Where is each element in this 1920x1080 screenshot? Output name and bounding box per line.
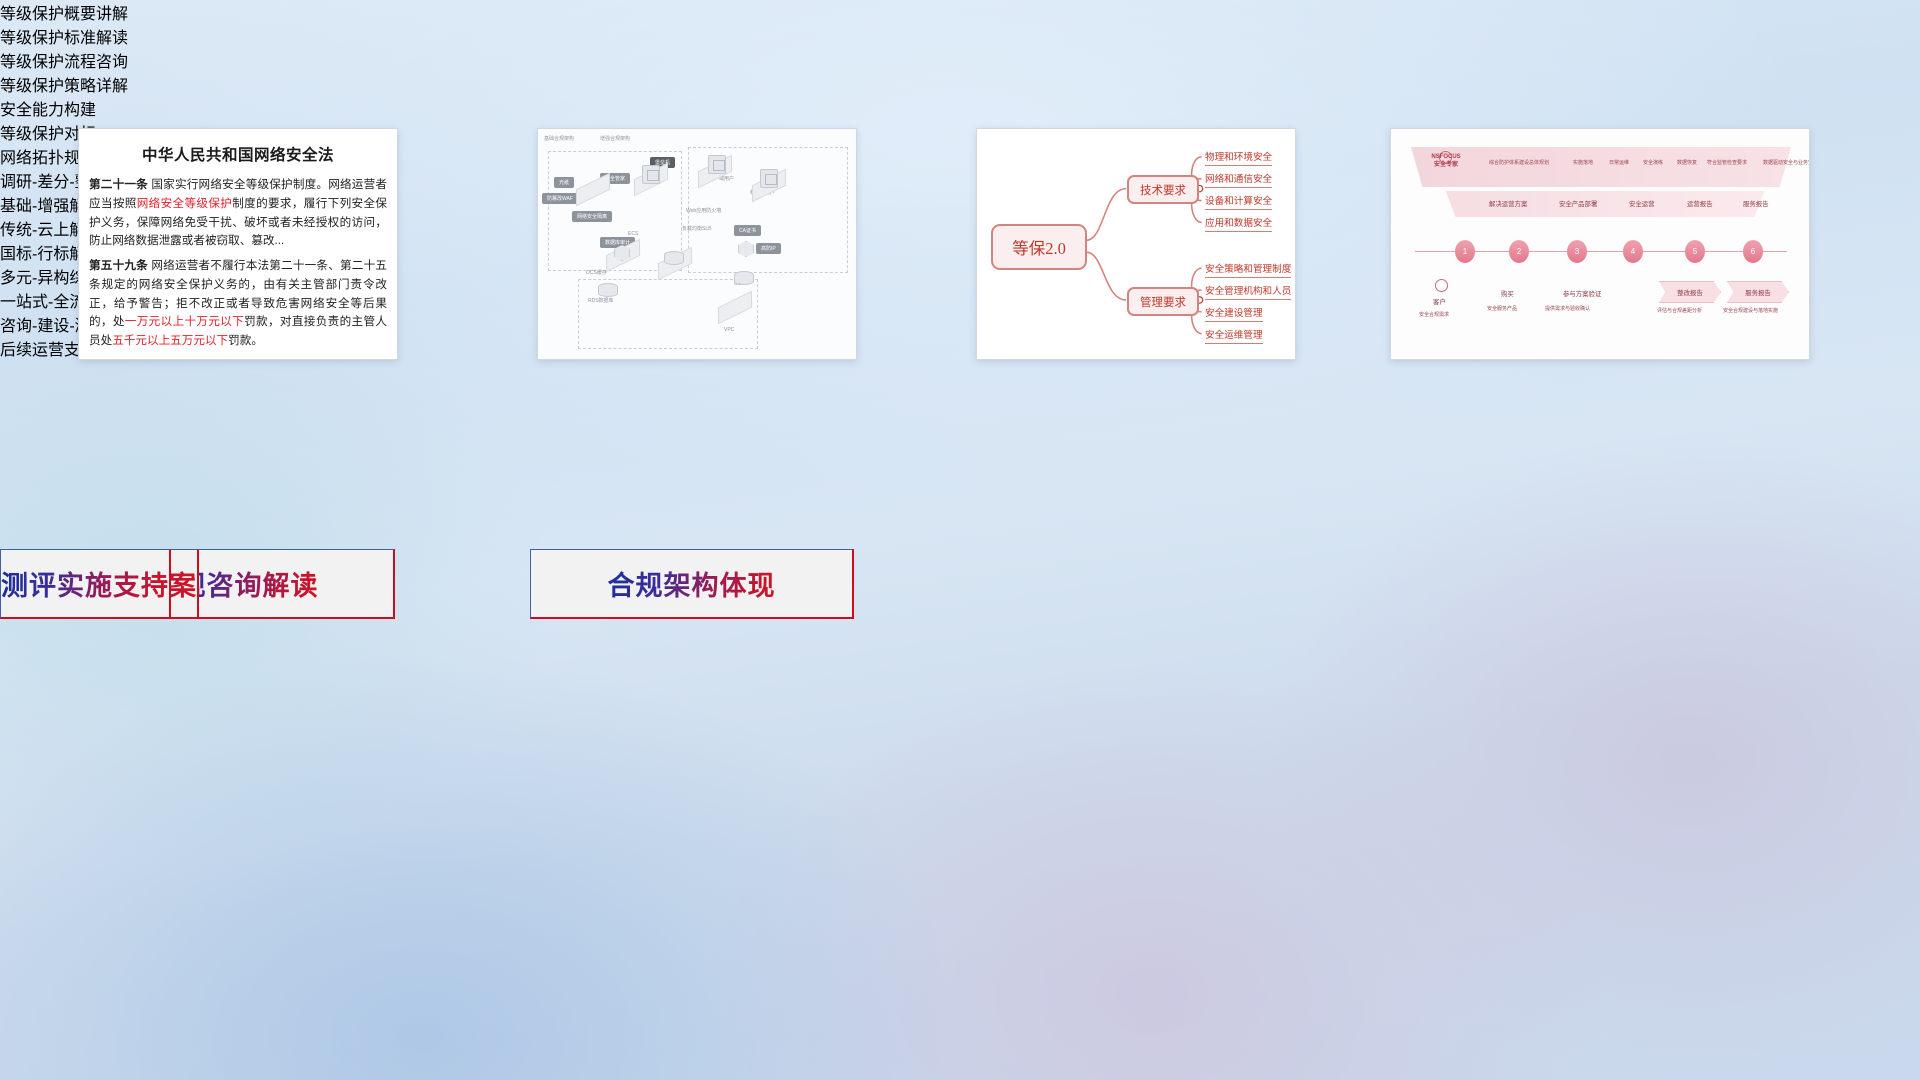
mindmap-leaf-mgmt-1[interactable]: 安全管理机构和人员	[1205, 283, 1291, 300]
law-body: 第二十一条 国家实行网络安全等级保护制度。网络运营者应当按照网络安全等级保护制度…	[79, 176, 397, 351]
list-item: 等级保护概要讲解	[0, 0, 1920, 24]
nsfocus-step-2[interactable]: 2	[1509, 240, 1529, 263]
arch-chip-16: VPC	[724, 327, 734, 333]
arch-server-1	[708, 155, 726, 174]
law-article-59: 第五十九条 网络运营者不履行本法第二十一条、第二十五条规定的网络安全保护义务的，…	[89, 257, 387, 351]
customer-icon	[1435, 279, 1448, 292]
nsfocus-step-1[interactable]: 1	[1455, 240, 1475, 263]
law-article-21-highlight: 网络安全等级保护	[137, 197, 232, 210]
arch-server-3	[642, 165, 660, 184]
mindmap-leaf-tech-1[interactable]: 网络和通信安全	[1205, 171, 1272, 188]
nsfocus-chevron-sub-1: 安全合规建设与落地实施	[1723, 307, 1778, 314]
law-article-21: 第二十一条 国家实行网络安全等级保护制度。网络运营者应当按照网络安全等级保护制度…	[89, 176, 387, 251]
nsfocus-step-4[interactable]: 4	[1623, 240, 1643, 263]
arch-header-left: 基础合规架构	[544, 135, 574, 142]
law-article-59-text-c: 罚款。	[228, 334, 263, 347]
list-item: 安全能力构建	[0, 96, 1920, 120]
mindmap-leaf-mgmt-0[interactable]: 安全策略和管理制度	[1205, 261, 1291, 278]
nsfocus-bottom-sub-0: 安全服务产品	[1487, 305, 1517, 312]
list-item: 等级保护流程咨询	[0, 48, 1920, 72]
section-title-4: 测评实施支持	[1, 564, 169, 603]
list-item: 等级保护标准解读	[0, 24, 1920, 48]
card-mindmap-dengbao[interactable]: 等保2.0 技术要求 管理要求 物理和环境安全 网络和通信安全 设备和计算安全 …	[976, 128, 1296, 360]
law-article-59-highlight-1: 一万元以上十万元以下	[125, 315, 244, 328]
arch-chip-4: 网络安全隔离	[572, 211, 612, 222]
nsfocus-bottom-item-1: 参与方案验证	[1563, 289, 1601, 298]
arch-header-right: 增强合规架构	[600, 135, 630, 142]
nsfocus-bottom-left-label: 客户	[1433, 297, 1446, 306]
nsfocus-chevron-1[interactable]: 服务报告	[1727, 281, 1789, 303]
arch-chip-2: 光纸	[554, 177, 574, 188]
nsfocus-band-item-1: 实施落地	[1573, 159, 1593, 166]
arch-db-1	[664, 251, 684, 265]
nsfocus-canvas: NSFOCUS 安全专家 综合防护体系建设总体规划 实施落地 日常运维 安全演练…	[1391, 129, 1809, 359]
mindmap-branch-management[interactable]: 管理要求	[1127, 287, 1199, 316]
section-title-2: 合规架构体现	[608, 564, 776, 603]
mindmap-leaf-mgmt-3[interactable]: 安全运维管理	[1205, 327, 1263, 344]
arch-oss	[734, 271, 754, 285]
nsfocus-band2-item-3: 运营报告	[1687, 199, 1713, 208]
nsfocus-bottom-item-0: 购买	[1501, 289, 1514, 298]
mindmap-leaf-tech-0[interactable]: 物理和环境安全	[1205, 149, 1272, 166]
arch-chip-12: ECS	[628, 231, 638, 237]
list-item: 等级保护策略详解	[0, 72, 1920, 96]
section-title-box-2[interactable]: 合规架构体现	[530, 549, 854, 619]
nsfocus-band2-item-0: 解决运营方案	[1489, 199, 1527, 208]
nsfocus-band2-item-4: 服务报告	[1743, 199, 1769, 208]
nsfocus-band-item-5: 符合监管检查要求	[1707, 159, 1747, 166]
mindmap-leaf-mgmt-2[interactable]: 安全建设管理	[1205, 305, 1263, 322]
mindmap-root[interactable]: 等保2.0	[991, 224, 1087, 270]
mindmap-branch-technical[interactable]: 技术要求	[1127, 175, 1199, 204]
nsfocus-chevron-sub-0: 评估与合规差距分析	[1657, 307, 1702, 314]
card-nsfocus-roadmap[interactable]: NSFOCUS 安全专家 综合防护体系建设总体规划 实施落地 日常运维 安全演练…	[1390, 128, 1810, 360]
card-cybersecurity-law[interactable]: 中华人民共和国网络安全法 第二十一条 国家实行网络安全等级保护制度。网络运营者应…	[78, 128, 398, 360]
section-title-box-4[interactable]: 测评实施支持	[0, 549, 171, 619]
law-article-59-label: 第五十九条	[89, 259, 148, 272]
nsfocus-band2-item-2: 安全运营	[1629, 199, 1655, 208]
arch-db-2	[598, 283, 618, 297]
law-article-21-label: 第二十一条	[89, 178, 148, 191]
arch-chip-13: OCS缓存	[586, 269, 607, 276]
nsfocus-logo-line2: 安全专家	[1417, 161, 1475, 169]
mindmap-canvas: 等保2.0 技术要求 管理要求 物理和环境安全 网络和通信安全 设备和计算安全 …	[977, 129, 1295, 359]
nsfocus-band-item-0: 综合防护体系建设总体规划	[1489, 159, 1549, 166]
nsfocus-logo-line1: NSFOCUS	[1417, 153, 1475, 161]
nsfocus-band-item-6: 数据驱动安全与业务安全深度融合	[1763, 159, 1810, 166]
law-article-59-highlight-2: 五千元以上五万元以下	[112, 334, 228, 347]
arch-chip-11: 负载均衡SLB	[682, 225, 711, 232]
nsfocus-step-6[interactable]: 6	[1743, 240, 1763, 263]
card-architecture-diagram[interactable]: 基础合规架构 增强合规架构 堡垒机 安全管家 光纸 防篡改WAF 网络安全隔离 …	[537, 128, 857, 360]
nsfocus-bottom-left-sub: 安全合规需求	[1419, 311, 1449, 318]
bullet-column-1: 等级保护概要讲解 等级保护标准解读 等级保护流程咨询 等级保护策略详解	[0, 0, 1920, 96]
nsfocus-step-3[interactable]: 3	[1567, 240, 1587, 263]
nsfocus-logo: NSFOCUS 安全专家	[1417, 153, 1475, 169]
nsfocus-band2-item-1: 安全产品部署	[1559, 199, 1597, 208]
nsfocus-band-item-4: 数据恢复	[1677, 159, 1697, 166]
mindmap-leaf-tech-2[interactable]: 设备和计算安全	[1205, 193, 1272, 210]
nsfocus-bottom-sub-1: 提供需求与验收确认	[1545, 305, 1590, 312]
nsfocus-band-item-3: 安全演练	[1643, 159, 1663, 166]
mindmap-leaf-tech-3[interactable]: 应用和数据安全	[1205, 215, 1272, 232]
arch-chip-10: Web应用防火墙	[686, 207, 721, 214]
architecture-canvas: 基础合规架构 增强合规架构 堡垒机 安全管家 光纸 防篡改WAF 网络安全隔离 …	[538, 129, 856, 359]
nsfocus-chevron-0[interactable]: 整改报告	[1659, 281, 1721, 303]
slide-canvas: 中华人民共和国网络安全法 第二十一条 国家实行网络安全等级保护制度。网络运营者应…	[0, 0, 1920, 1080]
arch-chip-7: 高防IP	[756, 243, 781, 254]
arch-chip-3: 防篡改WAF	[542, 193, 578, 204]
nsfocus-band-item-2: 日常运维	[1609, 159, 1629, 166]
nsfocus-step-5[interactable]: 5	[1685, 240, 1705, 263]
law-title: 中华人民共和国网络安全法	[79, 143, 397, 165]
screenshot-card-row: 中华人民共和国网络安全法 第二十一条 国家实行网络安全等级保护制度。网络运营者应…	[0, 128, 1920, 368]
arch-chip-6: CA证书	[734, 225, 761, 236]
arch-chip-14: RDS数据库	[588, 297, 614, 304]
arch-server-2	[760, 169, 778, 188]
